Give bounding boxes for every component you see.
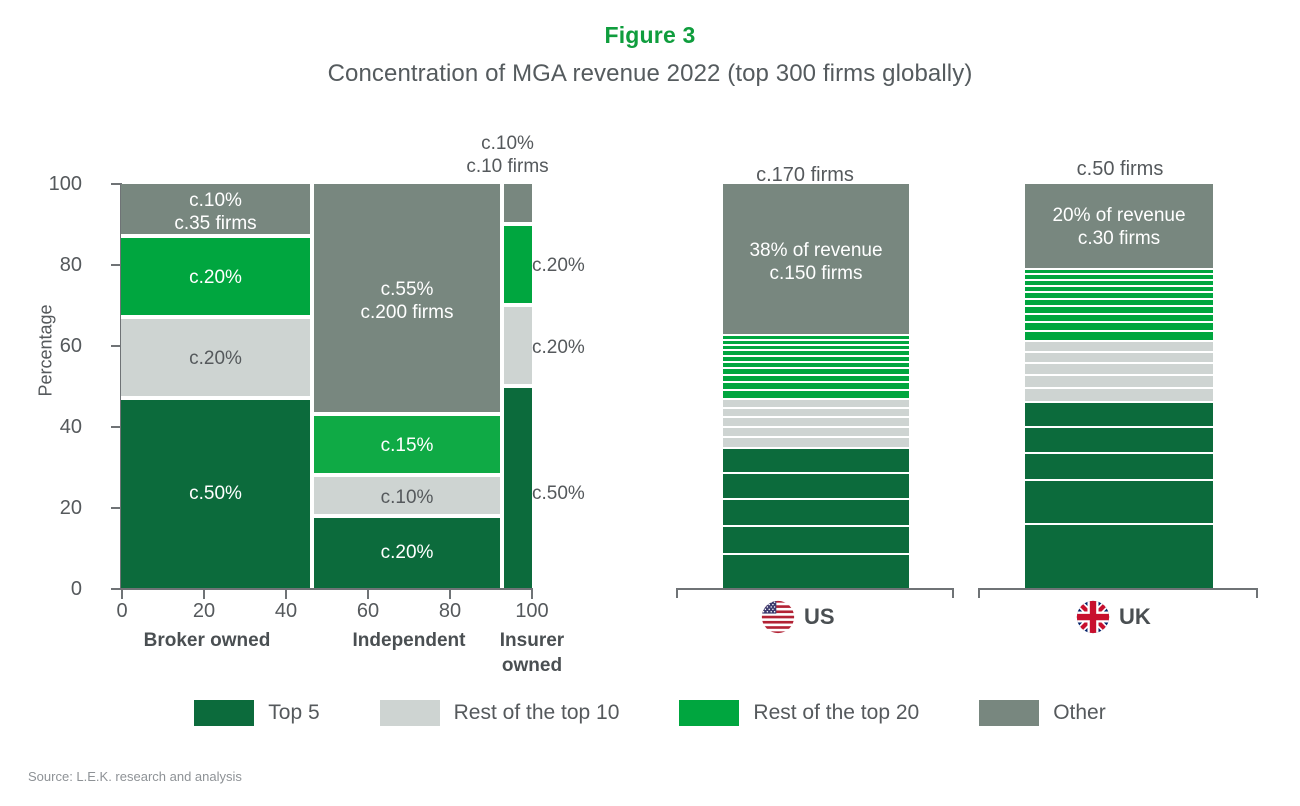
y-tick-label-80: 80 bbox=[22, 254, 82, 277]
chart-subtitle: Concentration of MGA revenue 2022 (top 3… bbox=[0, 60, 1300, 88]
us-country-label: US bbox=[761, 600, 835, 634]
legend-label-rest-of-top-10: Rest of the top 10 bbox=[454, 701, 620, 725]
mosaic-seg-broker-rest10-label: c.20% bbox=[121, 347, 310, 370]
x-tick-40 bbox=[285, 590, 287, 599]
x-tick-60 bbox=[367, 590, 369, 599]
us-seg-other-label-1: 38% of revenue bbox=[723, 239, 909, 262]
uk-seg-top-5-5[interactable] bbox=[1025, 523, 1213, 588]
x-axis-line bbox=[120, 588, 533, 590]
mosaic-seg-independent-other-label-1: c.55% bbox=[314, 278, 500, 301]
x-tick-80 bbox=[449, 590, 451, 599]
uk-baseline bbox=[978, 588, 1258, 590]
insurer-top5-callout: c.50% bbox=[532, 482, 585, 505]
legend-swatch-top-5 bbox=[194, 700, 254, 726]
uk-bar-stack[interactable]: 20% of revenue c.30 firms bbox=[1025, 184, 1213, 588]
legend-swatch-other bbox=[979, 700, 1039, 726]
mosaic-seg-independent-top5-label: c.20% bbox=[314, 541, 500, 564]
uk-seg-rest-top-10-2[interactable] bbox=[1025, 351, 1213, 362]
mosaic-seg-broker-rest-top-10[interactable]: c.20% bbox=[121, 317, 310, 398]
y-tick-0 bbox=[111, 588, 120, 590]
us-seg-other[interactable]: 38% of revenue c.150 firms bbox=[723, 184, 909, 334]
uk-seg-rest-top-10-5[interactable] bbox=[1025, 387, 1213, 401]
uk-seg-rest-top-20-7[interactable] bbox=[1025, 305, 1213, 313]
insurer-other-callout-line-1: c.10% bbox=[440, 132, 575, 155]
uk-seg-rest-top-20-8[interactable] bbox=[1025, 313, 1213, 321]
uk-seg-rest-top-10-3[interactable] bbox=[1025, 362, 1213, 374]
us-seg-top-5-2[interactable] bbox=[723, 472, 909, 498]
chart-legend: Top 5 Rest of the top 10 Rest of the top… bbox=[0, 700, 1300, 726]
legend-label-other: Other bbox=[1053, 701, 1106, 725]
mosaic-seg-broker-other[interactable]: c.10% c.35 firms bbox=[121, 184, 310, 236]
us-seg-rest-top-20-7[interactable] bbox=[723, 367, 909, 374]
us-flag-icon bbox=[761, 600, 795, 634]
source-note: Source: L.E.K. research and analysis bbox=[28, 769, 242, 784]
legend-swatch-rest-of-top-20 bbox=[679, 700, 739, 726]
mosaic-seg-independent-rest20-label: c.15% bbox=[314, 434, 500, 457]
mosaic-seg-independent-rest10-label: c.10% bbox=[314, 486, 500, 509]
x-tick-0 bbox=[121, 590, 123, 599]
y-tick-40 bbox=[111, 426, 120, 428]
us-seg-rest-top-20-9[interactable] bbox=[723, 381, 909, 389]
uk-seg-rest-top-10-1[interactable] bbox=[1025, 340, 1213, 351]
x-tick-label-0: 0 bbox=[82, 600, 162, 623]
insurer-rest10-callout: c.20% bbox=[532, 336, 585, 359]
mosaic-seg-independent-other-label-2: c.200 firms bbox=[314, 301, 500, 324]
mosaic-seg-broker-rest20-label: c.20% bbox=[121, 266, 310, 289]
us-seg-other-label-2: c.150 firms bbox=[723, 262, 909, 285]
us-baseline-cap-right bbox=[952, 589, 954, 598]
uk-seg-top-5-4[interactable] bbox=[1025, 479, 1213, 523]
mosaic-seg-independent-top-5[interactable]: c.20% bbox=[314, 516, 500, 588]
uk-baseline-cap-left bbox=[978, 589, 980, 598]
category-label-broker-owned: Broker owned bbox=[121, 629, 293, 654]
uk-seg-top-5-1[interactable] bbox=[1025, 401, 1213, 426]
legend-item-other[interactable]: Other bbox=[979, 700, 1106, 726]
y-tick-label-20: 20 bbox=[22, 497, 82, 520]
us-seg-rest-top-10-4[interactable] bbox=[723, 426, 909, 436]
mosaic-seg-broker-top-5[interactable]: c.50% bbox=[121, 398, 310, 588]
x-tick-label-60: 60 bbox=[328, 600, 408, 623]
y-tick-label-40: 40 bbox=[22, 416, 82, 439]
mosaic-seg-independent-rest-top-10[interactable]: c.10% bbox=[314, 475, 500, 516]
mosaic-seg-broker-top5-label: c.50% bbox=[121, 482, 310, 505]
uk-country-label-text: UK bbox=[1119, 604, 1151, 630]
mosaic-seg-insurer-rest-top-10[interactable] bbox=[504, 305, 532, 386]
us-seg-rest-top-10-1[interactable] bbox=[723, 398, 909, 407]
legend-item-rest-of-top-20[interactable]: Rest of the top 20 bbox=[679, 700, 919, 726]
mosaic-seg-insurer-rest-top-20[interactable] bbox=[504, 224, 532, 305]
us-seg-rest-top-20-10[interactable] bbox=[723, 389, 909, 398]
mosaic-seg-insurer-top-5[interactable] bbox=[504, 386, 532, 588]
uk-seg-top-5-3[interactable] bbox=[1025, 452, 1213, 479]
insurer-other-callout-line-2: c.10 firms bbox=[440, 155, 575, 178]
uk-flag-icon bbox=[1076, 600, 1110, 634]
uk-seg-rest-top-10-4[interactable] bbox=[1025, 374, 1213, 387]
uk-seg-other-label-1: 20% of revenue bbox=[1025, 204, 1213, 227]
uk-seg-rest-top-20-9[interactable] bbox=[1025, 321, 1213, 330]
uk-seg-rest-top-20-10[interactable] bbox=[1025, 330, 1213, 340]
mosaic-seg-broker-rest-top-20[interactable]: c.20% bbox=[121, 236, 310, 317]
mosaic-column-independent[interactable]: c.55% c.200 firms c.15% c.10% c.20% bbox=[314, 184, 500, 588]
us-seg-top-5-5[interactable] bbox=[723, 553, 909, 588]
legend-item-top-5[interactable]: Top 5 bbox=[194, 700, 319, 726]
x-tick-label-20: 20 bbox=[164, 600, 244, 623]
mosaic-column-insurer-owned[interactable] bbox=[504, 184, 532, 588]
uk-seg-other[interactable]: 20% of revenue c.30 firms bbox=[1025, 184, 1213, 268]
x-tick-100 bbox=[531, 590, 533, 599]
us-seg-top-5-1[interactable] bbox=[723, 447, 909, 472]
mosaic-seg-independent-other[interactable]: c.55% c.200 firms bbox=[314, 184, 500, 414]
us-seg-rest-top-10-5[interactable] bbox=[723, 436, 909, 447]
uk-seg-other-label-2: c.30 firms bbox=[1025, 227, 1213, 250]
category-label-independent: Independent bbox=[316, 629, 502, 654]
uk-seg-rest-top-20-6[interactable] bbox=[1025, 298, 1213, 305]
mosaic-seg-insurer-other[interactable] bbox=[504, 184, 532, 224]
legend-label-rest-of-top-20: Rest of the top 20 bbox=[753, 701, 919, 725]
legend-label-top-5: Top 5 bbox=[268, 701, 319, 725]
y-tick-20 bbox=[111, 507, 120, 509]
insurer-rest20-callout: c.20% bbox=[532, 254, 585, 277]
mosaic-seg-broker-other-label-2: c.35 firms bbox=[121, 212, 310, 235]
y-tick-80 bbox=[111, 264, 120, 266]
us-seg-top-5-3[interactable] bbox=[723, 498, 909, 525]
uk-baseline-cap-right bbox=[1256, 589, 1258, 598]
x-tick-label-80: 80 bbox=[410, 600, 490, 623]
mosaic-plot-area: c.10% c.35 firms c.20% c.20% c.50% c.55%… bbox=[121, 184, 532, 588]
legend-swatch-rest-of-top-10 bbox=[380, 700, 440, 726]
us-bar-stack[interactable]: 38% of revenue c.150 firms bbox=[723, 184, 909, 588]
category-label-insurer-owned: Insurer owned bbox=[484, 629, 580, 678]
x-tick-label-40: 40 bbox=[246, 600, 326, 623]
y-tick-label-60: 60 bbox=[22, 335, 82, 358]
us-baseline-cap-left bbox=[676, 589, 678, 598]
us-seg-top-5-4[interactable] bbox=[723, 525, 909, 553]
category-label-insurer-owned-line-1: Insurer bbox=[484, 629, 580, 654]
us-baseline bbox=[676, 588, 954, 590]
insurer-other-callout: c.10% c.10 firms bbox=[440, 132, 575, 178]
us-seg-rest-top-10-3[interactable] bbox=[723, 416, 909, 426]
uk-top-label: c.50 firms bbox=[1015, 158, 1225, 181]
x-tick-label-100: 100 bbox=[492, 600, 572, 623]
mosaic-column-broker-owned[interactable]: c.10% c.35 firms c.20% c.20% c.50% bbox=[121, 184, 310, 588]
uk-seg-rest-top-20-5[interactable] bbox=[1025, 291, 1213, 298]
figure-label: Figure 3 bbox=[0, 22, 1300, 49]
y-tick-100 bbox=[111, 183, 120, 185]
y-tick-label-0: 0 bbox=[22, 578, 82, 601]
uk-seg-top-5-2[interactable] bbox=[1025, 426, 1213, 452]
y-tick-label-100: 100 bbox=[22, 173, 82, 196]
mosaic-seg-broker-other-label-1: c.10% bbox=[121, 189, 310, 212]
x-tick-20 bbox=[203, 590, 205, 599]
y-tick-60 bbox=[111, 345, 120, 347]
us-seg-rest-top-20-8[interactable] bbox=[723, 374, 909, 381]
mosaic-seg-independent-rest-top-20[interactable]: c.15% bbox=[314, 414, 500, 475]
category-label-insurer-owned-line-2: owned bbox=[484, 654, 580, 679]
uk-country-label: UK bbox=[1076, 600, 1151, 634]
us-country-label-text: US bbox=[804, 604, 835, 630]
legend-item-rest-of-top-10[interactable]: Rest of the top 10 bbox=[380, 700, 620, 726]
us-seg-rest-top-10-2[interactable] bbox=[723, 407, 909, 416]
